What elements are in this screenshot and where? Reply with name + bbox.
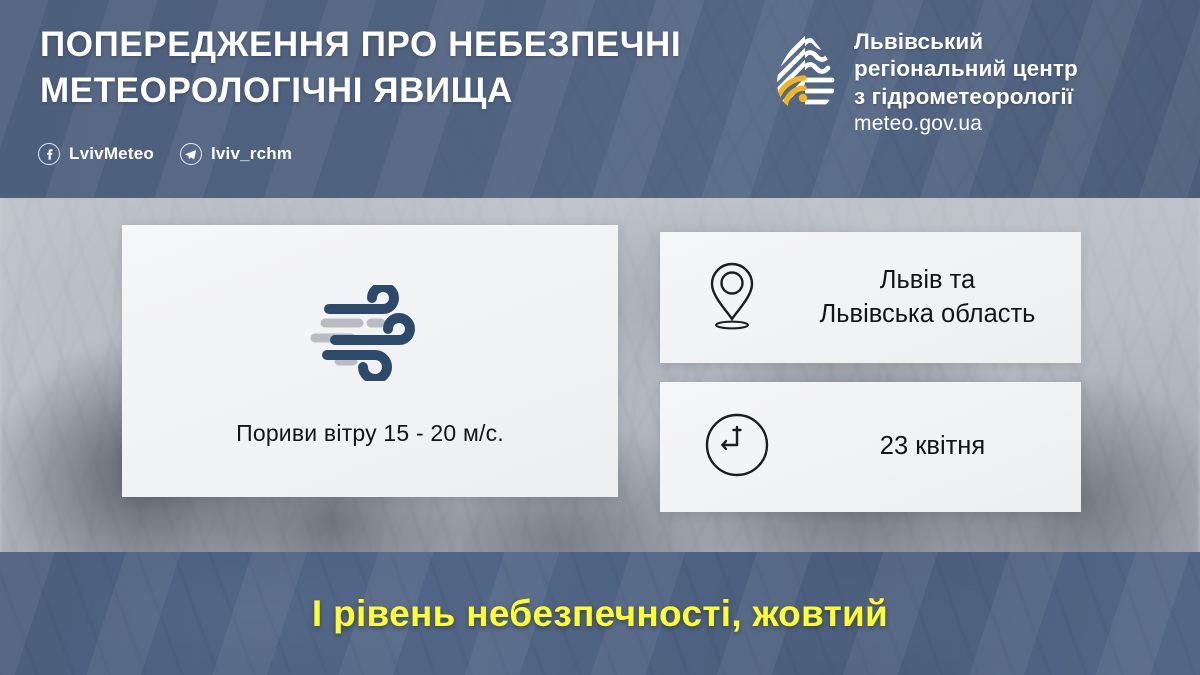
wind-warning-card: Пориви вітру 15 - 20 м/с. bbox=[122, 225, 618, 497]
brand-line-1: Львівський bbox=[854, 28, 1078, 55]
social-label-telegram: lviv_rchm bbox=[211, 144, 292, 164]
brand-line-3: з гідрометеорології bbox=[854, 83, 1078, 110]
social-links: LvivMeteo lviv_rchm bbox=[38, 143, 292, 165]
wind-warning-text: Пориви вітру 15 - 20 м/с. bbox=[236, 420, 504, 447]
map-pin-icon bbox=[704, 259, 760, 336]
facebook-icon bbox=[38, 143, 60, 165]
header-band: ПОПЕРЕДЖЕННЯ ПРО НЕБЕЗПЕЧНІ МЕТЕОРОЛОГІЧ… bbox=[0, 0, 1200, 198]
weather-warning-poster: ПОПЕРЕДЖЕННЯ ПРО НЕБЕЗПЕЧНІ МЕТЕОРОЛОГІЧ… bbox=[0, 0, 1200, 675]
location-card: Львів та Львівська область bbox=[660, 232, 1081, 363]
page-title-line-1: ПОПЕРЕДЖЕННЯ ПРО НЕБЕЗПЕЧНІ bbox=[40, 22, 760, 68]
danger-level-band: І рівень небезпечності, жовтий bbox=[0, 552, 1200, 675]
social-link-facebook[interactable]: LvivMeteo bbox=[38, 143, 154, 165]
page-title-line-2: МЕТЕОРОЛОГІЧНІ ЯВИЩА bbox=[40, 68, 760, 114]
wind-gusts-icon bbox=[309, 285, 431, 386]
location-text: Львів та Львівська область bbox=[798, 264, 1057, 330]
brand-block: Львівський регіональний центр з гідромет… bbox=[772, 28, 1078, 136]
brand-line-2: регіональний центр bbox=[854, 55, 1078, 82]
telegram-icon bbox=[180, 143, 202, 165]
social-label-facebook: LvivMeteo bbox=[69, 144, 154, 164]
hydrometeorology-logo-icon bbox=[772, 28, 840, 121]
location-line-2: Львівська область bbox=[798, 298, 1057, 331]
date-text: 23 квітня bbox=[808, 430, 1057, 463]
date-card: 23 квітня bbox=[660, 382, 1081, 512]
clock-icon bbox=[704, 412, 770, 483]
social-link-telegram[interactable]: lviv_rchm bbox=[180, 143, 292, 165]
location-line-1: Львів та bbox=[798, 264, 1057, 297]
page-title: ПОПЕРЕДЖЕННЯ ПРО НЕБЕЗПЕЧНІ МЕТЕОРОЛОГІЧ… bbox=[40, 22, 760, 113]
brand-website-url[interactable]: meteo.gov.ua bbox=[854, 112, 1078, 136]
danger-level-text: І рівень небезпечності, жовтий bbox=[312, 593, 888, 635]
